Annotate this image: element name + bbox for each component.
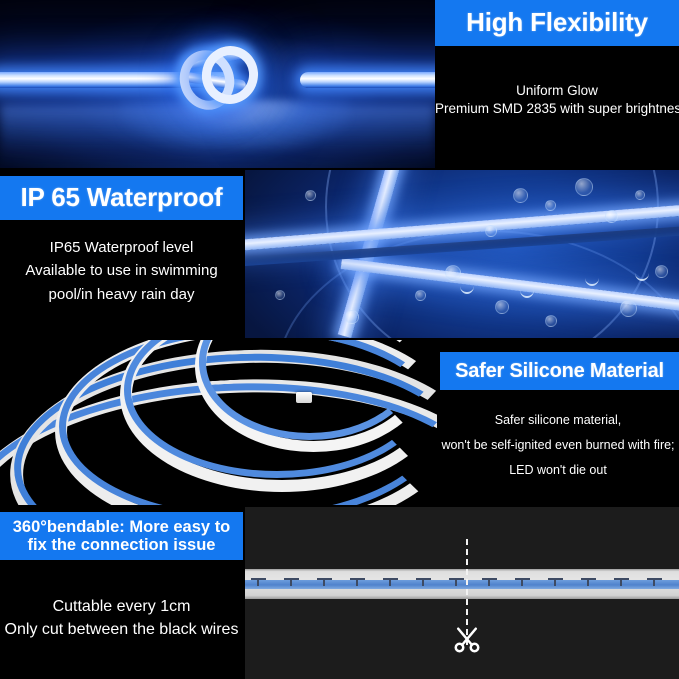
banner-360-bendable: 360°bendable: More easy to fix the conne… <box>0 512 243 560</box>
caption-line: IP65 Waterproof level <box>0 236 243 259</box>
bubble <box>655 265 668 278</box>
scissors-icon <box>452 625 482 655</box>
led-solder-mark <box>515 578 530 580</box>
bubble <box>345 310 359 324</box>
water-scene <box>245 170 679 338</box>
caption-line: Only cut between the black wires <box>0 618 243 641</box>
neon-tube-right <box>300 72 435 88</box>
led-solder-mark <box>548 578 563 580</box>
bubble <box>545 200 556 211</box>
coil-scene <box>0 340 437 505</box>
caption-high-flexibility: Uniform Glow Premium SMD 2835 with super… <box>435 82 679 118</box>
bubble <box>275 290 285 300</box>
banner-safer-silicone-material: Safer Silicone Material <box>440 352 679 390</box>
bubble <box>445 265 461 281</box>
caption-ip65-waterproof: IP65 Waterproof level Available to use i… <box>0 236 243 306</box>
caption-line: LED won't die out <box>437 458 679 483</box>
bubble <box>495 300 509 314</box>
droplet <box>635 265 649 281</box>
bubble <box>415 290 426 301</box>
caption-line: won't be self-ignited even burned with f… <box>437 433 679 458</box>
bubble <box>575 178 593 196</box>
led-strip-core <box>245 580 679 589</box>
led-solder-mark <box>317 578 332 580</box>
coiled-silicone-strip-photo <box>0 340 437 505</box>
safer-silicone-text-panel: Safer Silicone Material Safer silicone m… <box>437 340 679 505</box>
panel-row-high-flexibility: High Flexibility Uniform Glow Premium SM… <box>0 0 679 168</box>
led-solder-mark <box>416 578 431 580</box>
bubble <box>485 225 497 237</box>
bubble <box>605 210 618 223</box>
banner-high-flexibility: High Flexibility <box>435 0 679 46</box>
cut-line-diagram <box>245 507 679 679</box>
caption-line: Available to use in swimming <box>0 259 243 282</box>
caption-line: Uniform Glow <box>435 82 679 100</box>
bubble <box>305 190 316 201</box>
infographic-sheet: High Flexibility Uniform Glow Premium SM… <box>0 0 679 679</box>
underwater-neon-strip-photo <box>245 170 679 338</box>
panel-row-bendable-cuttable: 360°bendable: More easy to fix the conne… <box>0 507 679 679</box>
led-solder-mark <box>614 578 629 580</box>
bendable-cuttable-text-panel: 360°bendable: More easy to fix the conne… <box>0 507 243 679</box>
caption-line: Premium SMD 2835 with super brightness <box>435 100 679 118</box>
led-solder-mark <box>581 578 596 580</box>
banner-ip65-waterproof: IP 65 Waterproof <box>0 176 243 220</box>
ip65-waterproof-text-panel: IP 65 Waterproof IP65 Waterproof level A… <box>0 170 243 338</box>
caption-cuttable: Cuttable every 1cm Only cut between the … <box>0 595 243 641</box>
led-solder-mark <box>350 578 365 580</box>
caption-line: Cuttable every 1cm <box>0 595 243 618</box>
panel-row-safer-silicone: Safer Silicone Material Safer silicone m… <box>0 340 679 505</box>
led-solder-mark <box>647 578 662 580</box>
caption-safer-silicone: Safer silicone material, won't be self-i… <box>437 408 679 483</box>
led-solder-mark <box>482 578 497 580</box>
floor-hotspot <box>120 100 350 150</box>
led-solder-mark <box>383 578 398 580</box>
neon-knot <box>178 42 252 100</box>
panel-row-ip65-waterproof: IP 65 Waterproof IP65 Waterproof level A… <box>0 170 679 338</box>
bubble <box>545 315 557 327</box>
bubble <box>513 188 528 203</box>
high-flexibility-text-panel: High Flexibility Uniform Glow Premium SM… <box>435 0 679 168</box>
bubble <box>620 300 637 317</box>
banner-line: 360°bendable: More easy <box>13 518 210 536</box>
droplet <box>520 282 534 298</box>
caption-line: pool/in heavy rain day <box>0 283 243 306</box>
knotted-neon-strip-photo <box>0 0 435 168</box>
caption-line: Safer silicone material, <box>437 408 679 433</box>
led-solder-mark <box>251 578 266 580</box>
droplet <box>460 278 474 294</box>
neon-scene <box>0 0 435 168</box>
strip-connector <box>296 392 312 403</box>
led-solder-mark <box>449 578 464 580</box>
droplet <box>585 270 599 286</box>
bubble <box>635 190 645 200</box>
led-solder-mark <box>284 578 299 580</box>
